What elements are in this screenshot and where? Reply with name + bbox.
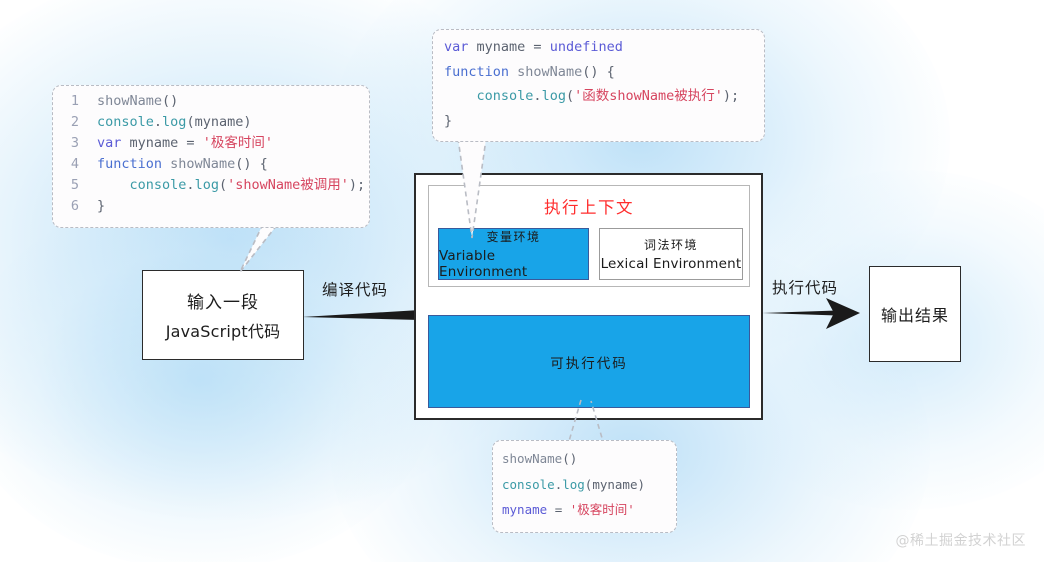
code-token: myname xyxy=(121,135,186,151)
code-token: myname xyxy=(502,502,555,517)
code-token: ) xyxy=(243,114,251,130)
arrow-label-compile: 编译代码 xyxy=(322,278,388,300)
execution-context-container: 执行上下文 变量环境 Variable Environment 词法环境 Lex… xyxy=(414,173,763,420)
lexical-environment-label-en: Lexical Environment xyxy=(601,256,742,272)
code-token: () { xyxy=(582,64,615,80)
code-token: console xyxy=(502,477,555,492)
code-line: 6} xyxy=(53,200,369,214)
code-token: function xyxy=(444,64,509,80)
line-number: 6 xyxy=(65,200,79,214)
code-token: log xyxy=(562,477,585,492)
line-number: 1 xyxy=(65,95,79,109)
code-token: = xyxy=(555,502,570,517)
code-line: 5 console.log('showName被调用'); xyxy=(53,179,369,193)
code-token: ); xyxy=(723,88,739,104)
code-line: 3var myname = '极客时间' xyxy=(53,137,369,151)
line-number: 3 xyxy=(65,137,79,151)
code-token: . xyxy=(533,88,541,104)
output-box: 输出结果 xyxy=(869,266,961,362)
code-token: () { xyxy=(235,156,268,172)
code-token xyxy=(97,177,130,193)
code-lines-container: 1showName()2console.log(myname)3var myna… xyxy=(53,95,369,214)
code-token: console xyxy=(97,114,154,130)
code-token: myname xyxy=(468,39,533,55)
diagram-canvas: 编译代码 执行代码 1showName()2console.log(myname… xyxy=(0,0,1044,562)
code-token: () xyxy=(562,451,577,466)
code-token: () xyxy=(162,93,178,109)
code-token: undefined xyxy=(550,39,623,55)
code-line: console.log('函数showName被执行'); xyxy=(433,90,764,104)
code-token: showName xyxy=(97,93,162,109)
code-token: ( xyxy=(186,114,194,130)
code-line: showName() xyxy=(493,453,676,466)
code-line: myname = '极客时间' xyxy=(493,504,676,517)
code-token: '函数showName被执行' xyxy=(574,88,723,104)
code-token xyxy=(444,88,477,104)
code-token: console xyxy=(477,88,534,104)
code-token: console xyxy=(130,177,187,193)
arrow-compile xyxy=(300,300,425,328)
code-token: log xyxy=(195,177,219,193)
code-token: 'showName被调用' xyxy=(227,177,349,193)
code-token: ) xyxy=(637,477,645,492)
code-token: showName xyxy=(517,64,582,80)
code-token: log xyxy=(162,114,186,130)
code-token: = xyxy=(533,39,549,55)
variable-environment-box: 变量环境 Variable Environment xyxy=(438,228,589,280)
variable-environment-label-en: Variable Environment xyxy=(439,248,588,280)
code-token: var xyxy=(444,39,468,55)
code-line: 2console.log(myname) xyxy=(53,116,369,130)
code-token: function xyxy=(97,156,162,172)
source-code-callout: 1showName()2console.log(myname)3var myna… xyxy=(52,85,370,228)
code-token: } xyxy=(97,198,105,214)
code-token: ); xyxy=(349,177,365,193)
background-glow xyxy=(0,190,440,562)
code-token xyxy=(509,64,517,80)
line-number: 4 xyxy=(65,158,79,172)
code-token: showName xyxy=(170,156,235,172)
output-box-line1: 输出结果 xyxy=(881,302,949,326)
code-lines-container: var myname = undefinedfunction showName(… xyxy=(433,41,764,128)
code-line: 1showName() xyxy=(53,95,369,109)
arrow-execute xyxy=(760,296,880,332)
code-line: } xyxy=(433,115,764,129)
code-line: console.log(myname) xyxy=(493,479,676,492)
code-token: myname xyxy=(195,114,244,130)
executable-code-label: 可执行代码 xyxy=(550,352,628,372)
arrow-label-execute: 执行代码 xyxy=(772,276,838,298)
executable-code-box: 可执行代码 xyxy=(428,315,750,408)
code-token: . xyxy=(154,114,162,130)
code-token: '极客时间' xyxy=(570,502,635,517)
line-number: 5 xyxy=(65,179,79,193)
input-box-line1: 输入一段 xyxy=(187,288,259,313)
lexical-environment-box: 词法环境 Lexical Environment xyxy=(599,228,743,280)
code-token: log xyxy=(542,88,566,104)
variable-environment-label-cn: 变量环境 xyxy=(486,228,540,245)
watermark: @稀土掘金技术社区 xyxy=(896,530,1027,550)
line-number: 2 xyxy=(65,116,79,130)
code-token xyxy=(162,156,170,172)
code-token: ( xyxy=(219,177,227,193)
lexical-environment-label-cn: 词法环境 xyxy=(644,236,698,253)
input-box: 输入一段 JavaScript代码 xyxy=(142,270,304,360)
code-token: myname xyxy=(592,477,637,492)
executable-code-callout: showName()console.log(myname)myname = '极… xyxy=(492,440,677,533)
code-line: 4function showName() { xyxy=(53,158,369,172)
code-token: } xyxy=(444,113,452,129)
code-token: var xyxy=(97,135,121,151)
execution-context-panel: 执行上下文 变量环境 Variable Environment 词法环境 Lex… xyxy=(428,185,750,287)
code-token: showName xyxy=(502,451,562,466)
code-token: '极客时间' xyxy=(203,135,273,151)
code-token: . xyxy=(186,177,194,193)
code-token: = xyxy=(186,135,202,151)
variable-environment-callout: var myname = undefinedfunction showName(… xyxy=(432,29,765,142)
code-token: ( xyxy=(566,88,574,104)
input-box-line2: JavaScript代码 xyxy=(166,318,281,342)
code-line: var myname = undefined xyxy=(433,41,764,55)
execution-context-title: 执行上下文 xyxy=(429,194,749,218)
code-line: function showName() { xyxy=(433,66,764,80)
code-lines-container: showName()console.log(myname)myname = '极… xyxy=(493,453,676,517)
